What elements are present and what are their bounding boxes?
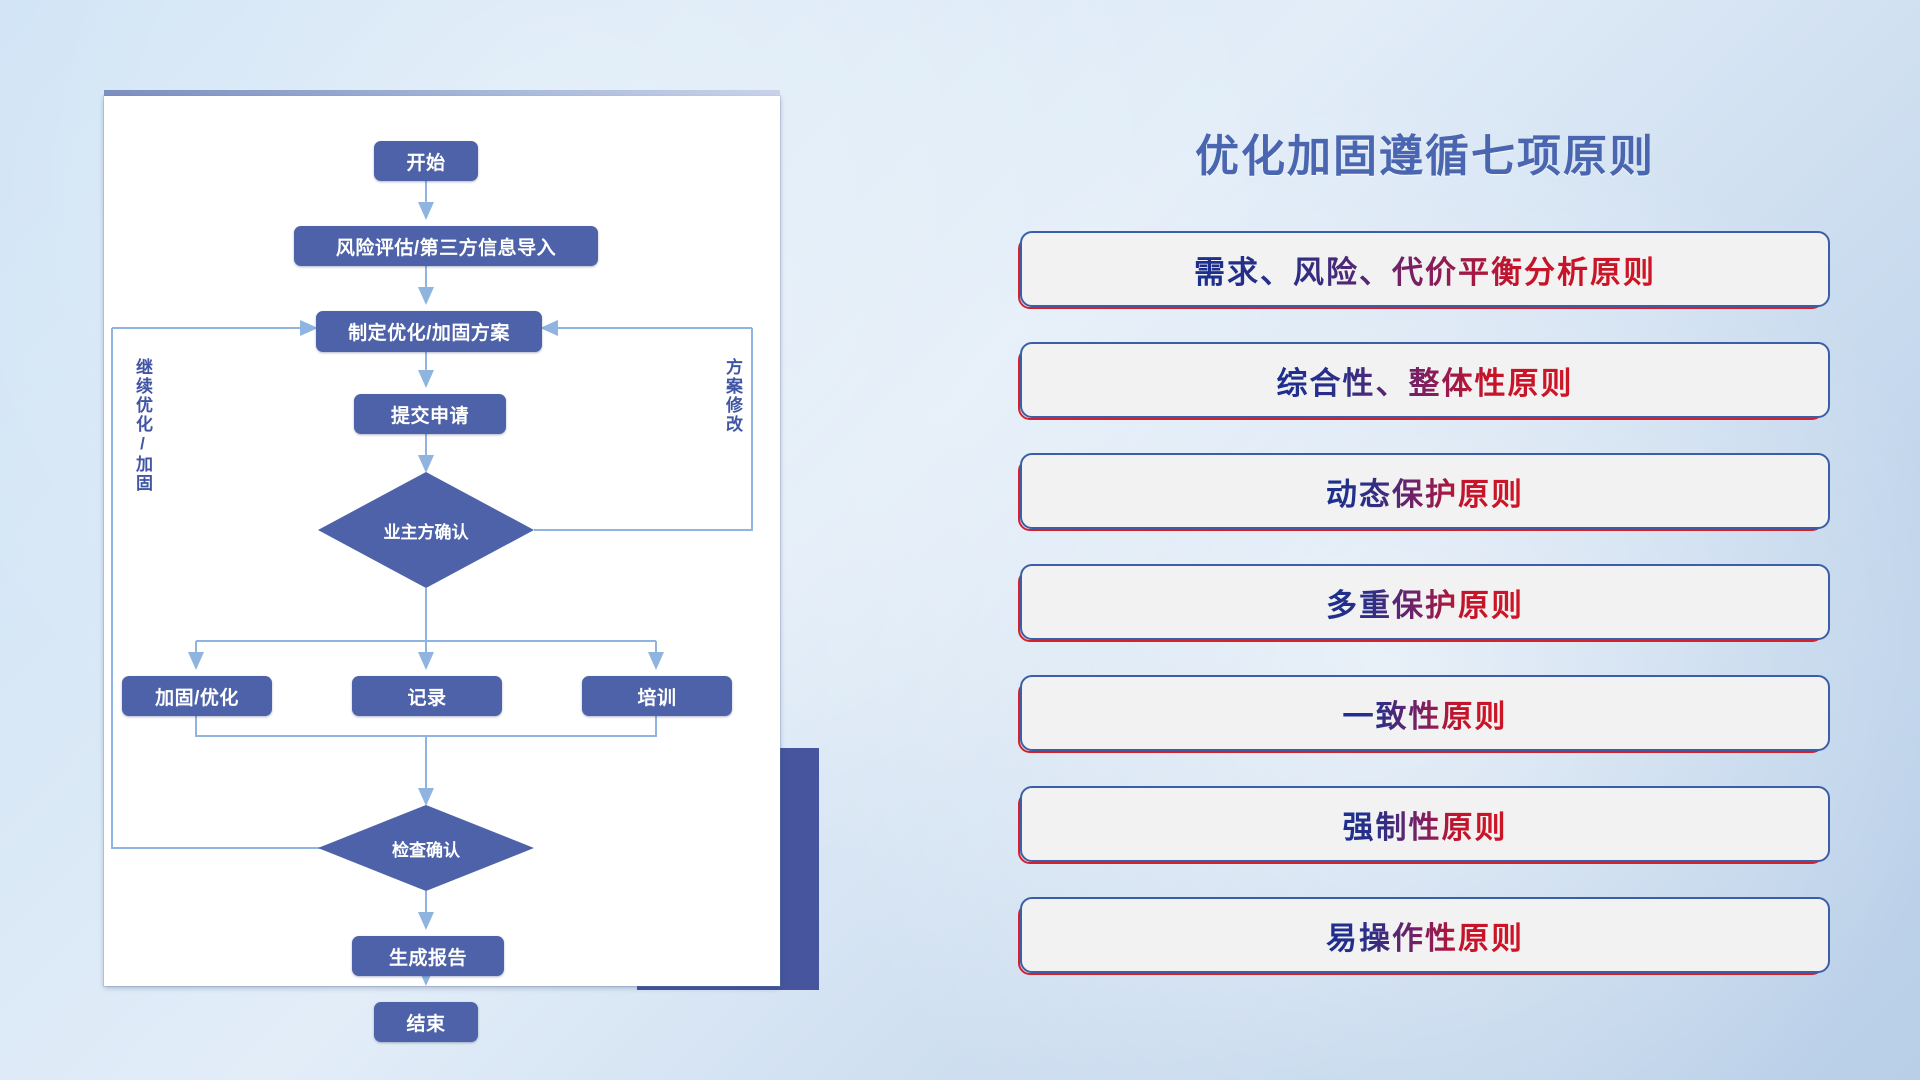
principle-card[interactable]: 多重保护原则: [1020, 564, 1830, 640]
flow-node-label: 加固/优化: [155, 683, 239, 710]
principle-card[interactable]: 易操作性原则: [1020, 897, 1830, 973]
principles-panel: 优化加固遵循七项原则 需求、风险、代价平衡分析原则 综合性、整体性原则 动态保护…: [1020, 96, 1830, 986]
principle-label: 动态保护原则: [1326, 469, 1524, 514]
principle-label: 综合性、整体性原则: [1277, 358, 1574, 403]
edge-label-continue-optimize: 继续优化/加固: [134, 358, 151, 493]
principle-label: 易操作性原则: [1326, 913, 1524, 958]
flow-node-risk-assessment[interactable]: 风险评估/第三方信息导入: [294, 226, 598, 266]
principle-label: 需求、风险、代价平衡分析原则: [1194, 247, 1656, 292]
principle-label: 强制性原则: [1343, 802, 1508, 847]
principle-card[interactable]: 强制性原则: [1020, 786, 1830, 862]
flow-node-label: 制定优化/加固方案: [348, 318, 510, 345]
flowchart: 开始 风险评估/第三方信息导入 制定优化/加固方案 提交申请 业主方确认 加固/…: [104, 96, 780, 986]
flow-node-plan[interactable]: 制定优化/加固方案: [316, 311, 542, 352]
principle-card[interactable]: 动态保护原则: [1020, 453, 1830, 529]
flow-node-reinforce[interactable]: 加固/优化: [122, 676, 272, 716]
flow-node-label: 业主方确认: [384, 518, 469, 543]
flowchart-panel: 开始 风险评估/第三方信息导入 制定优化/加固方案 提交申请 业主方确认 加固/…: [104, 96, 780, 986]
edge-label-plan-revision: 方案修改: [724, 358, 741, 434]
principles-list: 需求、风险、代价平衡分析原则 综合性、整体性原则 动态保护原则 多重保护原则 一…: [1020, 231, 1830, 1008]
flow-node-label: 风险评估/第三方信息导入: [336, 233, 556, 260]
flow-node-submit[interactable]: 提交申请: [354, 394, 506, 434]
principle-label: 一致性原则: [1343, 691, 1508, 736]
principle-card[interactable]: 一致性原则: [1020, 675, 1830, 751]
flow-node-label: 结束: [406, 1009, 445, 1036]
page-title: 优化加固遵循七项原则: [1020, 120, 1830, 184]
flow-node-label: 检查确认: [392, 836, 460, 861]
flow-node-training[interactable]: 培训: [582, 676, 732, 716]
flow-node-label: 开始: [406, 148, 445, 175]
slide-canvas: 开始 风险评估/第三方信息导入 制定优化/加固方案 提交申请 业主方确认 加固/…: [0, 0, 1920, 1080]
flow-node-generate-report[interactable]: 生成报告: [352, 936, 504, 976]
flow-node-label: 记录: [407, 683, 446, 710]
flow-node-record[interactable]: 记录: [352, 676, 502, 716]
flow-node-label: 提交申请: [391, 401, 469, 428]
flow-node-start[interactable]: 开始: [374, 141, 478, 181]
principle-card[interactable]: 需求、风险、代价平衡分析原则: [1020, 231, 1830, 307]
principle-label: 多重保护原则: [1326, 580, 1524, 625]
flow-node-label: 生成报告: [389, 943, 467, 970]
flow-node-label: 培训: [637, 683, 676, 710]
flow-node-end[interactable]: 结束: [374, 1002, 478, 1042]
principle-card[interactable]: 综合性、整体性原则: [1020, 342, 1830, 418]
